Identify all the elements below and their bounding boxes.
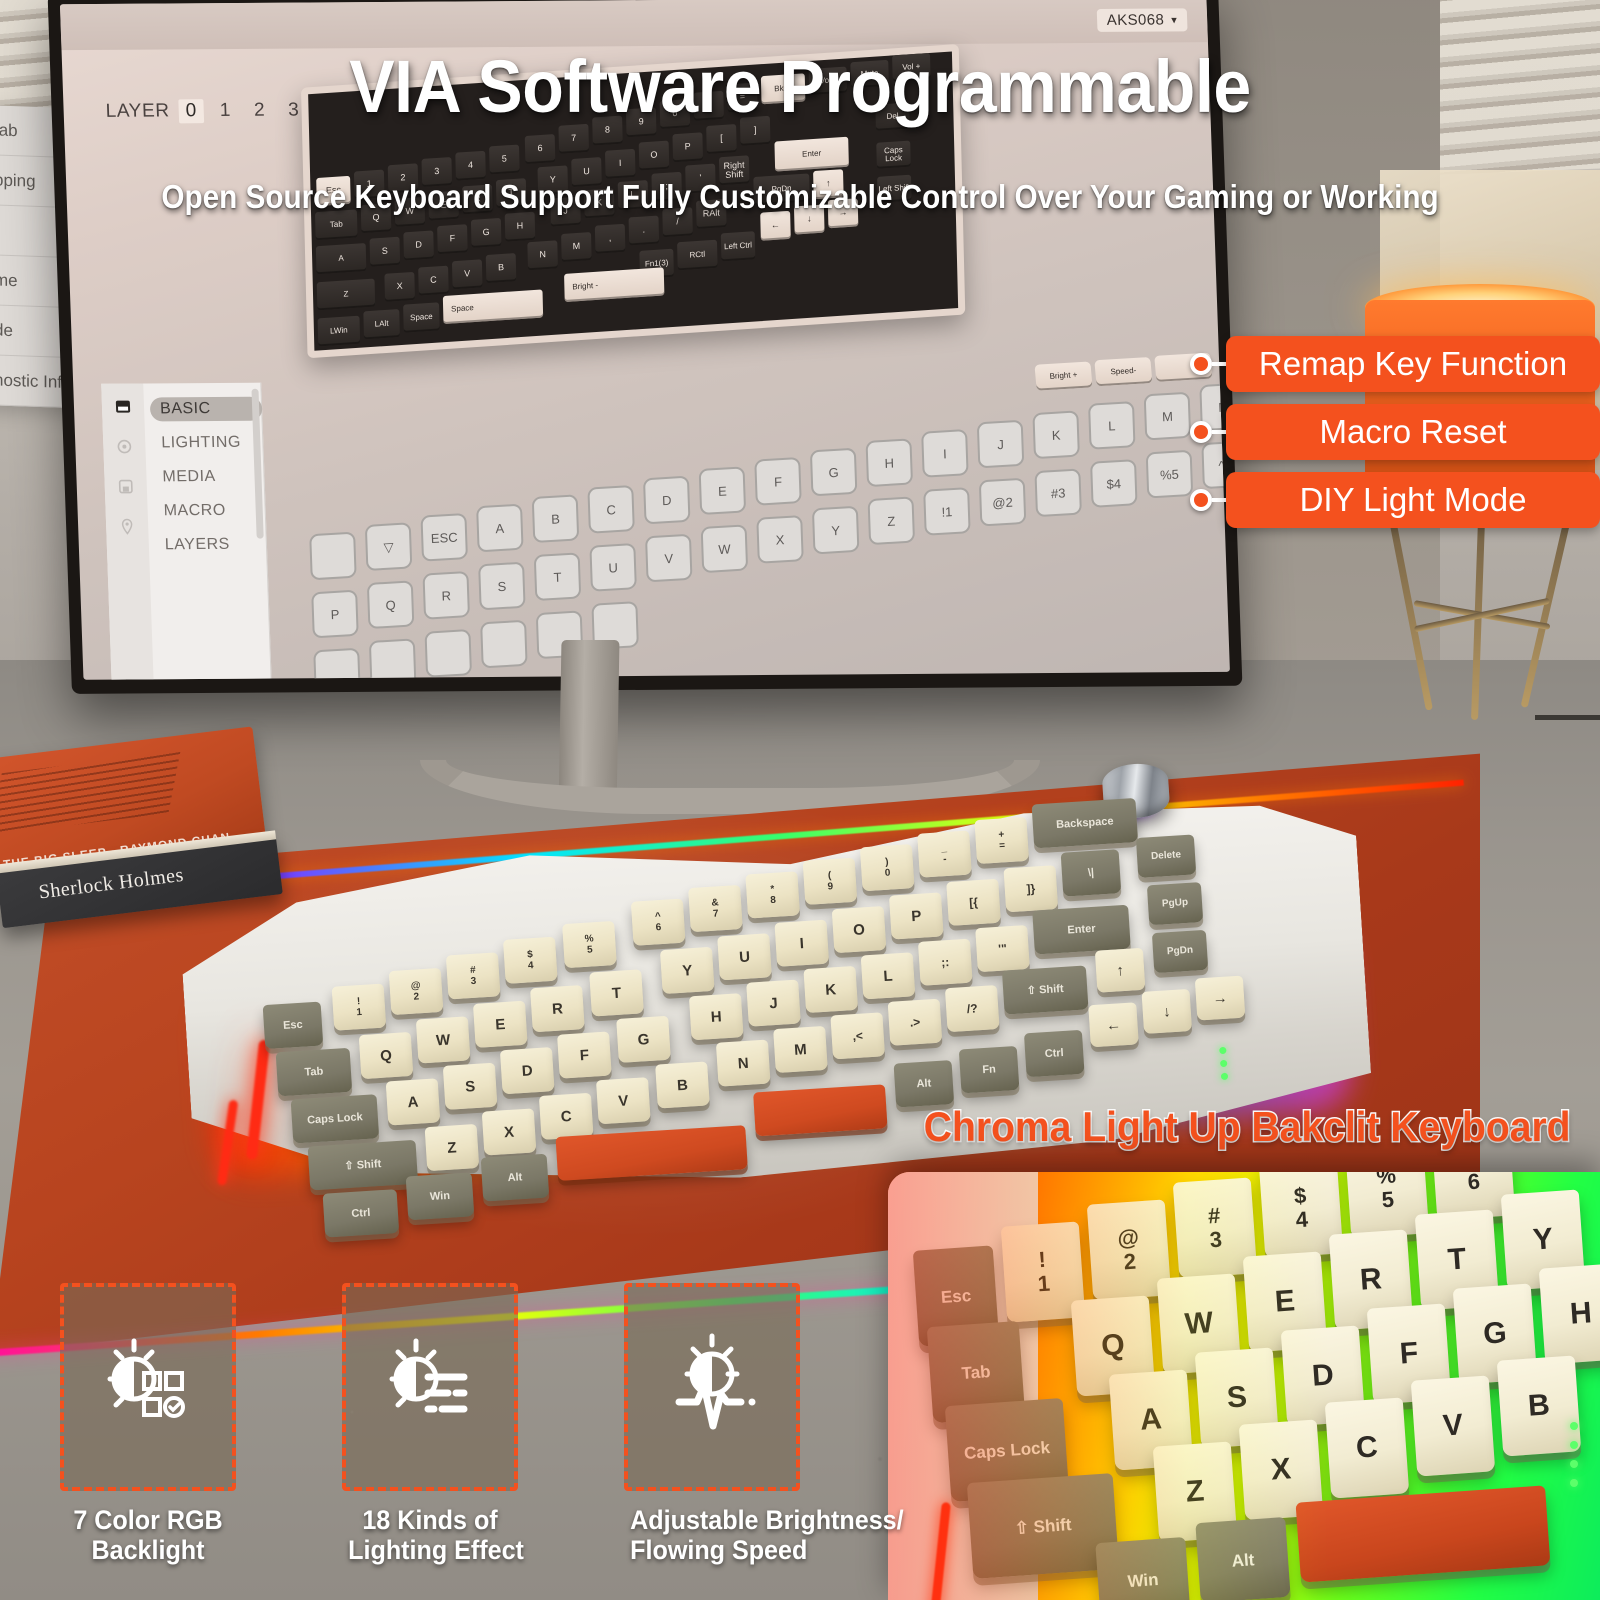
key-space-right[interactable]: [753, 1084, 888, 1136]
picker-key-v[interactable]: V: [645, 534, 692, 583]
picker-key-e[interactable]: E: [699, 466, 746, 515]
picker-key-down-tri[interactable]: ▽: [365, 522, 412, 571]
key-l[interactable]: L: [861, 952, 916, 999]
key-delete[interactable]: Delete: [1136, 834, 1196, 878]
brightness-speed-icon: [657, 1330, 767, 1445]
feature-caption-line1: 7 Color RGB: [66, 1505, 230, 1535]
picker-key-m[interactable]: M: [1144, 392, 1191, 441]
key-n[interactable]: N: [716, 1040, 771, 1087]
inset-key-h[interactable]: H: [1539, 1263, 1600, 1364]
feature-caption: 18 Kinds of Lighting Effect: [348, 1505, 512, 1565]
picker-key-g[interactable]: G: [810, 448, 857, 497]
key-q[interactable]: Q: [359, 1032, 414, 1079]
picker-key-k[interactable]: K: [1032, 410, 1079, 459]
via-key-pgup[interactable]: Caps Lock: [876, 141, 911, 169]
key-semicolon[interactable]: ;:: [918, 939, 973, 986]
picker-key-c[interactable]: C: [587, 485, 634, 534]
via-key-space-left[interactable]: Space: [443, 289, 543, 324]
via-key-d[interactable]: F: [437, 224, 468, 254]
key-d[interactable]: D: [500, 1047, 555, 1094]
feature-list: 7 Color RGB Backlight: [60, 1283, 880, 1583]
key-quote[interactable]: '": [975, 925, 1030, 972]
via-key-leftshift[interactable]: Z: [317, 279, 375, 311]
via-key-a[interactable]: S: [370, 237, 401, 267]
picker-key-q[interactable]: Q: [367, 580, 414, 629]
picker-key-4[interactable]: $4: [1090, 459, 1137, 508]
lamp-cord: [1535, 600, 1600, 720]
feature-7-color-rgb-backlight: 7 Color RGB Backlight: [60, 1283, 236, 1583]
picker-key-f[interactable]: F: [754, 457, 801, 506]
via-key-m[interactable]: ,: [595, 224, 626, 254]
sidebar-item-media[interactable]: MEDIA: [152, 465, 265, 490]
via-key-enter[interactable]: Enter: [774, 137, 848, 172]
key-8[interactable]: *8: [745, 871, 800, 918]
callout-label: DIY Light Mode: [1226, 472, 1600, 528]
picker-key-esc[interactable]: ESC: [420, 513, 467, 562]
key-capslock[interactable]: Caps Lock: [291, 1094, 380, 1143]
key-k[interactable]: K: [803, 966, 858, 1013]
inset-indicator-leds: [1570, 1422, 1578, 1487]
key-ralt[interactable]: Alt: [894, 1060, 955, 1108]
picker-key-p[interactable]: P: [311, 590, 358, 639]
key-z[interactable]: Z: [425, 1124, 480, 1171]
callout-connector: [1212, 498, 1226, 502]
feature-caption-line2: Flowing Speed: [630, 1535, 794, 1565]
via-key-g[interactable]: H: [505, 212, 536, 242]
via-icon-column: [101, 383, 153, 679]
key-t[interactable]: T: [589, 969, 644, 1016]
via-key-i[interactable]: I: [605, 149, 636, 179]
via-key-v[interactable]: B: [486, 253, 517, 283]
key-w[interactable]: W: [416, 1016, 471, 1063]
key-y[interactable]: Y: [660, 947, 715, 994]
key-a[interactable]: A: [386, 1078, 441, 1125]
key-v[interactable]: V: [596, 1077, 651, 1124]
key-lbracket[interactable]: [{: [946, 879, 1001, 926]
picker-key-b[interactable]: B: [532, 494, 579, 543]
key-rctrl[interactable]: Ctrl: [1024, 1030, 1085, 1078]
via-key-fn1[interactable]: RCtl: [677, 240, 718, 271]
inset-key-b[interactable]: B: [1497, 1355, 1582, 1456]
via-key-z[interactable]: X: [384, 272, 415, 302]
key-minus[interactable]: _-: [917, 830, 972, 877]
key-i[interactable]: I: [774, 920, 829, 967]
via-key-lalt[interactable]: Space: [403, 302, 440, 332]
callout-macro-reset[interactable]: Macro Reset: [1190, 398, 1600, 466]
picker-key-extra-3[interactable]: [425, 629, 472, 678]
via-key-b[interactable]: N: [527, 240, 558, 270]
via-key-space-right[interactable]: Bright -: [564, 267, 664, 302]
keyboard-closeup-inset: Esc !1 @2 #3 $4 %5 ^6 Tab Q W E R T Y Ca…: [888, 1172, 1600, 1600]
via-key-x[interactable]: C: [418, 266, 449, 296]
sidebar-item-basic[interactable]: BASIC: [150, 397, 263, 422]
book-cover-lines: [0, 751, 180, 835]
key-enter[interactable]: Enter: [1032, 905, 1131, 955]
picker-key-u[interactable]: U: [589, 543, 636, 592]
picker-key-5[interactable]: %5: [1146, 450, 1193, 499]
picker-key-1[interactable]: !1: [923, 487, 970, 536]
callout-dot-icon: [1190, 489, 1212, 511]
feature-caption-line1: Adjustable Brightness/: [630, 1505, 794, 1535]
key-m[interactable]: M: [773, 1026, 828, 1073]
feature-icon-box: [60, 1283, 236, 1491]
key-leftshift[interactable]: ⇧ Shift: [308, 1140, 419, 1191]
key-esc[interactable]: Esc: [263, 1002, 324, 1050]
picker-key-r[interactable]: R: [422, 571, 469, 620]
key-4[interactable]: $4: [503, 937, 558, 984]
key-fn[interactable]: Fn: [959, 1046, 1020, 1094]
picker-key-s[interactable]: S: [478, 562, 525, 611]
key-3[interactable]: #3: [446, 952, 501, 999]
key-9[interactable]: (9: [803, 858, 858, 905]
picker-key-w[interactable]: W: [701, 524, 748, 573]
via-key-p[interactable]: P: [672, 132, 703, 162]
key-b[interactable]: B: [655, 1061, 710, 1108]
callout-connector: [1212, 430, 1226, 434]
book-title: Sherlock Holmes: [38, 864, 186, 905]
picker-key-2[interactable]: @2: [979, 478, 1026, 527]
key-right[interactable]: →: [1195, 976, 1246, 1021]
feature-adjustable-brightness-speed: Adjustable Brightness/ Flowing Speed: [624, 1283, 800, 1583]
key-r[interactable]: R: [530, 985, 585, 1032]
save-icon[interactable]: [116, 478, 135, 496]
callout-dot-icon: [1190, 421, 1212, 443]
via-sidebar[interactable]: BASIC LIGHTING MEDIA MACRO LAYERS: [101, 383, 272, 680]
lighting-effect-icon: [378, 1333, 482, 1442]
chroma-headline: Chroma Light Up Bakclit Keyboard: [924, 1103, 1556, 1151]
key-e[interactable]: E: [473, 1001, 528, 1048]
feature-callouts: Remap Key Function Macro Reset DIY Light…: [1190, 330, 1600, 534]
feature-icon-box: [624, 1283, 800, 1491]
key-2[interactable]: @2: [389, 968, 444, 1015]
feature-caption-line2: Backlight: [66, 1535, 230, 1565]
pin-icon[interactable]: [118, 517, 137, 535]
key-c[interactable]: C: [539, 1093, 594, 1140]
key-ctrl[interactable]: Ctrl: [323, 1189, 400, 1238]
key-alt[interactable]: Alt: [481, 1154, 550, 1202]
chevron-down-icon: ▾: [1171, 13, 1177, 26]
bulb-icon[interactable]: [115, 438, 134, 456]
via-key-picker[interactable]: ▽ ESC A B C D E F G H I J K L M N O: [264, 339, 1229, 679]
device-selector[interactable]: AKS068 ▾: [1096, 8, 1187, 32]
via-key-leftctrl[interactable]: LWin: [318, 316, 361, 347]
key-u[interactable]: U: [717, 933, 772, 980]
picker-key-x[interactable]: X: [756, 515, 803, 564]
inset-key-win[interactable]: Win: [1095, 1537, 1190, 1600]
via-key-rctl[interactable]: Left Ctrl: [721, 231, 756, 261]
callout-diy-light-mode[interactable]: DIY Light Mode: [1190, 466, 1600, 534]
picker-key-d[interactable]: D: [643, 476, 690, 525]
key-x[interactable]: X: [482, 1108, 537, 1155]
picker-key-extra-4[interactable]: [480, 620, 527, 669]
feature-caption-line1: 18 Kinds of: [348, 1505, 512, 1535]
via-key-o[interactable]: O: [639, 141, 670, 171]
picker-key-h[interactable]: H: [866, 438, 913, 487]
picker-key-i[interactable]: I: [921, 429, 968, 478]
via-key-5[interactable]: 5: [489, 145, 520, 175]
key-7[interactable]: &7: [688, 885, 743, 932]
callout-label: Macro Reset: [1226, 404, 1600, 460]
key-comma[interactable]: ,<: [830, 1012, 885, 1059]
picker-key-l[interactable]: L: [1088, 401, 1135, 450]
key-period[interactable]: .>: [888, 999, 943, 1046]
key-6[interactable]: ^6: [631, 899, 686, 946]
via-key-6[interactable]: 6: [525, 134, 556, 164]
key-down[interactable]: ↓: [1142, 989, 1193, 1034]
page-title: VIA Software Programmable: [64, 44, 1536, 129]
key-pgup[interactable]: PgUp: [1147, 882, 1203, 925]
picker-key-3[interactable]: #3: [1034, 468, 1081, 517]
key-0[interactable]: )0: [860, 844, 915, 891]
picker-key-extra-2[interactable]: [369, 638, 416, 679]
picker-key-j[interactable]: J: [977, 420, 1024, 469]
key-o[interactable]: O: [832, 906, 887, 953]
feature-caption: Adjustable Brightness/ Flowing Speed: [630, 1505, 794, 1565]
feature-caption: 7 Color RGB Backlight: [66, 1505, 230, 1565]
via-key-f[interactable]: G: [471, 218, 502, 248]
picker-key-a[interactable]: A: [476, 504, 523, 553]
status-indicator-leds: [1219, 1047, 1228, 1080]
inset-key-v[interactable]: V: [1411, 1375, 1496, 1476]
rgb-backlight-icon: [96, 1333, 200, 1442]
key-f[interactable]: F: [557, 1031, 612, 1078]
keyboard-icon[interactable]: [114, 398, 133, 416]
via-menu[interactable]: BASIC LIGHTING MEDIA MACRO LAYERS: [150, 397, 268, 558]
key-tab[interactable]: Tab: [276, 1048, 353, 1097]
picker-key-blank[interactable]: [309, 532, 356, 581]
keyboard-keys: Esc !1 @2 #3 $4 %5 ^6 &7 *8 (9 )0 _- += …: [172, 738, 1376, 1231]
key-1[interactable]: !1: [332, 984, 387, 1031]
sidebar-item-layers[interactable]: LAYERS: [154, 533, 267, 558]
key-5[interactable]: %5: [562, 921, 617, 968]
via-key-4[interactable]: 4: [455, 151, 486, 181]
picker-key-t[interactable]: T: [534, 552, 581, 601]
via-key-capslock[interactable]: A: [316, 243, 367, 274]
via-key-comma[interactable]: .: [629, 216, 660, 246]
key-h[interactable]: H: [689, 993, 744, 1040]
via-key-n[interactable]: M: [561, 232, 592, 262]
callout-dot-icon: [1190, 353, 1212, 375]
callout-label: Remap Key Function: [1226, 336, 1600, 392]
feature-18-lighting-effects: 18 Kinds of Lighting Effect: [342, 1283, 518, 1583]
via-key-lwin[interactable]: LAlt: [363, 309, 400, 339]
via-key-s[interactable]: D: [403, 230, 434, 260]
key-g[interactable]: G: [616, 1016, 671, 1063]
sidebar-item-lighting[interactable]: LIGHTING: [151, 431, 264, 456]
key-pgdn[interactable]: PgDn: [1152, 930, 1208, 973]
key-win[interactable]: Win: [406, 1172, 475, 1220]
via-key-c[interactable]: V: [452, 259, 483, 289]
key-rightshift[interactable]: ⇧ Shift: [1002, 965, 1089, 1014]
key-left[interactable]: ←: [1088, 1002, 1139, 1047]
picker-key-y[interactable]: Y: [812, 506, 859, 555]
feature-caption-line2: Lighting Effect: [348, 1535, 512, 1565]
sidebar-item-macro[interactable]: MACRO: [153, 499, 266, 524]
key-slash[interactable]: /?: [945, 985, 1000, 1032]
key-equal[interactable]: +=: [974, 817, 1029, 864]
key-s[interactable]: S: [443, 1063, 498, 1110]
key-up[interactable]: ↑: [1095, 948, 1146, 993]
key-backslash[interactable]: \|: [1061, 849, 1122, 897]
via-topbar: AKS068 ▾: [60, 0, 1208, 50]
key-j[interactable]: J: [746, 980, 801, 1027]
picker-key-extra-1[interactable]: [313, 648, 360, 680]
key-backspace[interactable]: Backspace: [1032, 798, 1139, 848]
product-banner: tab pping me de nostic Inform AKS068 ▾: [0, 0, 1600, 1600]
key-rbracket[interactable]: ]}: [1004, 865, 1059, 912]
device-selector-label: AKS068: [1106, 11, 1164, 28]
callout-connector: [1212, 362, 1226, 366]
picker-key-z[interactable]: Z: [868, 496, 915, 545]
key-p[interactable]: P: [889, 892, 944, 939]
page-subtitle: Open Source Keyboard Support Fully Custo…: [80, 178, 1520, 216]
inset-key-alt[interactable]: Alt: [1195, 1517, 1290, 1600]
feature-icon-box: [342, 1283, 518, 1491]
inset-key-c[interactable]: C: [1325, 1397, 1410, 1498]
callout-remap-key-function[interactable]: Remap Key Function: [1190, 330, 1600, 398]
